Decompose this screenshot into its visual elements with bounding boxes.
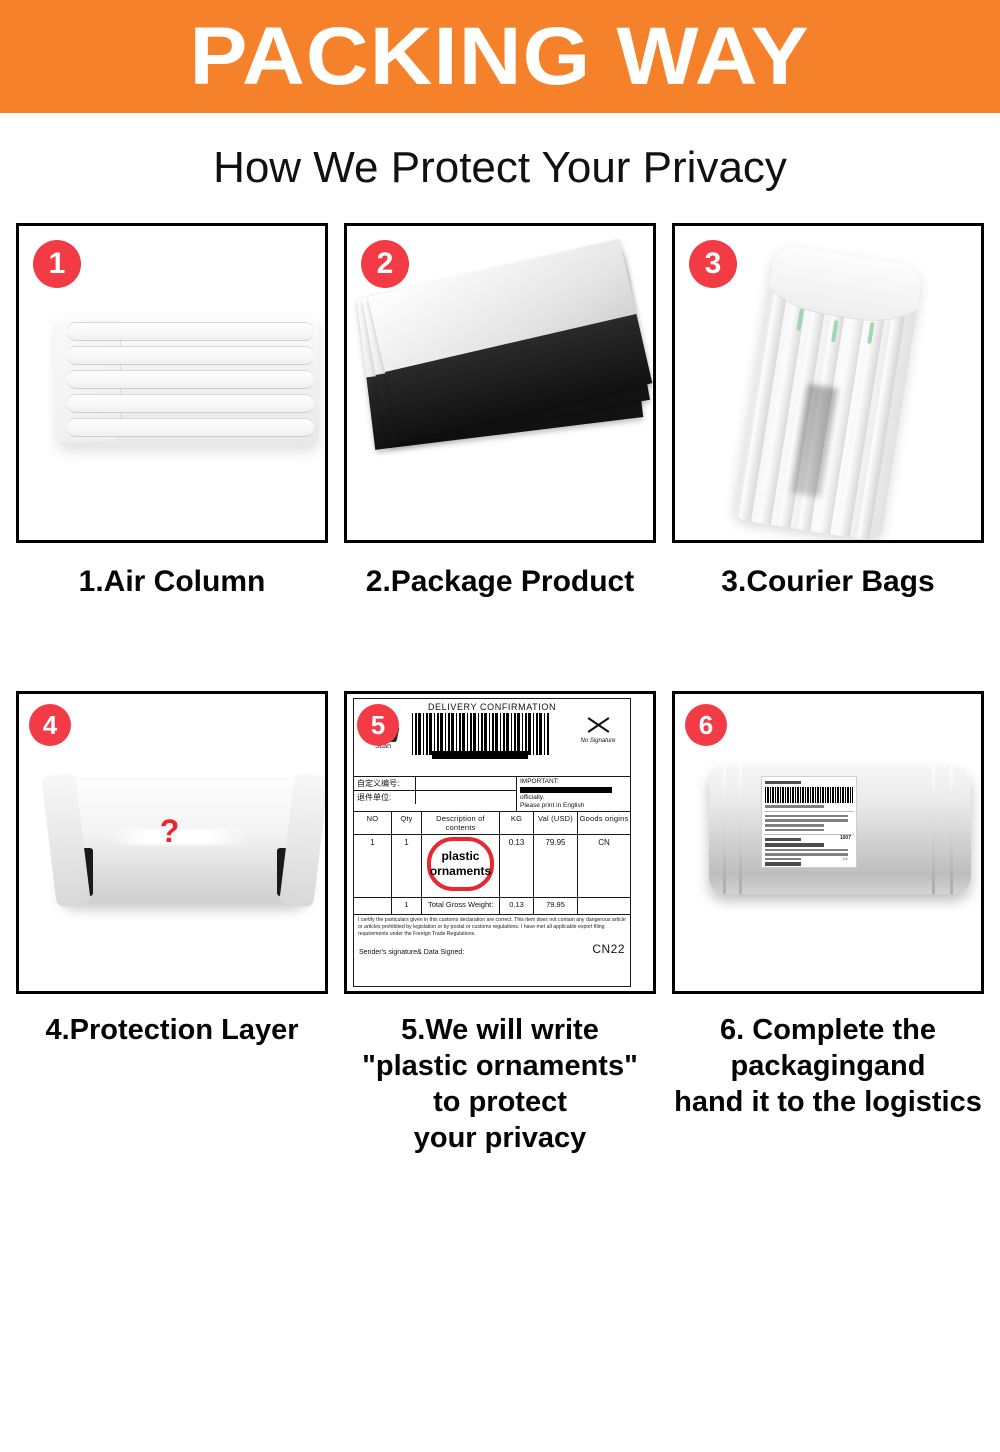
step-card-6: 6 (664, 691, 992, 1156)
step-6-image-panel: 6 (672, 691, 984, 994)
header-kg: KG (500, 812, 534, 834)
page-header-banner: PACKING WAY (0, 0, 1000, 113)
steps-grid: 1 1. (0, 223, 1000, 1156)
cell-description: plastic ornaments (422, 835, 500, 897)
step-5-caption-line-3: to protect (336, 1084, 664, 1120)
important-redacted-line (520, 787, 612, 793)
signature-row: Sender's signature& Data Signed: CN22 (354, 940, 630, 959)
step-1-badge: 1 (33, 240, 81, 288)
step-6-caption-line-1: 6. Complete the (664, 1012, 992, 1048)
contents-table-row: 1 1 plastic ornaments 0.13 79.95 CN (354, 835, 630, 898)
step-1-image-panel: 1 (16, 223, 328, 543)
step-3-image-panel: 3 (672, 223, 984, 543)
shipping-barcode-icon (765, 787, 853, 803)
cn22-customs-form: DELIVERY CONFIRMATION Scan No Signature (353, 698, 631, 987)
page-indicator: 1/1 (842, 856, 848, 861)
step-card-2: 2 2.Package Product (336, 223, 664, 599)
highlight-line-2: ornaments (430, 864, 491, 879)
step-card-1: 1 1. (8, 223, 336, 599)
step-5-caption-line-2: "plastic ornaments" (336, 1048, 664, 1084)
air-column-sleeve-icon (732, 244, 924, 542)
return-unit-row: 退件单位: (354, 791, 516, 804)
custom-number-row: 自定义编号: (354, 777, 516, 791)
cell-qty: 1 (392, 835, 422, 897)
custom-number-value[interactable] (416, 777, 516, 790)
step-6-badge: 6 (685, 704, 727, 746)
shipping-label: 1007 1/1 (761, 776, 857, 868)
header-origin: Goods origins (578, 812, 630, 834)
total-kg: 0.13 (500, 898, 534, 914)
contents-table-header: NO Qty Description of contents KG Val (U… (354, 812, 630, 835)
silver-package-icon: 1007 1/1 (709, 766, 971, 894)
cell-origin: CN (578, 835, 630, 897)
signature-label[interactable]: Sender's signature& Data Signed: (359, 949, 464, 956)
step-2-image-panel: 2 (344, 223, 656, 543)
header-desc: Description of contents (422, 812, 500, 834)
total-val: 79.95 (534, 898, 578, 914)
certification-text: I certify the particulars given in this … (354, 915, 630, 940)
plastic-ornaments-highlight: plastic ornaments (427, 837, 495, 891)
step-4-badge: 4 (29, 704, 71, 746)
form-header: DELIVERY CONFIRMATION Scan No Signature (354, 699, 630, 777)
step-3-badge: 3 (689, 240, 737, 288)
step-6-caption-line-3: hand it to the logistics (664, 1084, 992, 1120)
cell-no: 1 (354, 835, 392, 897)
barcode-icon (412, 713, 550, 755)
step-5-badge: 5 (357, 704, 399, 746)
step-6-caption: 6. Complete the packagingand hand it to … (664, 994, 992, 1120)
subtitle-container: How We Protect Your Privacy (0, 113, 1000, 223)
step-1-caption: 1.Air Column (8, 543, 336, 599)
custom-number-label: 自定义编号: (354, 777, 416, 790)
return-unit-value[interactable] (416, 791, 516, 804)
wrapped-package-icon (61, 780, 309, 902)
step-card-4: 4 ? 4.Protection Layer (8, 691, 336, 1156)
step-3-caption: 3.Courier Bags (664, 543, 992, 599)
form-code: CN22 (592, 942, 625, 956)
total-label: Total Gross Weight: (422, 898, 500, 914)
page-subtitle: How We Protect Your Privacy (213, 143, 787, 193)
header-qty: Qty (392, 812, 422, 834)
step-card-5: 5 DELIVERY CONFIRMATION Scan No Signatur… (336, 691, 664, 1156)
steps-row-1: 1 1. (8, 223, 992, 599)
no-signature-label: No Signature (574, 738, 622, 744)
header-val: Val (USD) (534, 812, 578, 834)
return-unit-label: 退件单位: (354, 791, 416, 804)
step-6-caption-line-2: packagingand (664, 1048, 992, 1084)
step-5-caption-line-1: 5.We will write (336, 1012, 664, 1048)
important-heading: IMPORTANT: (520, 778, 559, 785)
barcode-number-redacted (432, 751, 528, 759)
important-line-2: officially. (520, 794, 627, 802)
steps-row-2: 4 ? 4.Protection Layer 5 (8, 691, 992, 1156)
page-title: PACKING WAY (190, 16, 810, 98)
cell-val: 79.95 (534, 835, 578, 897)
step-2-caption: 2.Package Product (336, 543, 664, 599)
no-signature-icon: No Signature (574, 713, 622, 744)
important-line-3: Please print in English (520, 802, 627, 810)
package-number: 1007 (840, 836, 851, 841)
total-row: 1 Total Gross Weight: 0.13 79.95 (354, 898, 630, 915)
header-no: NO (354, 812, 392, 834)
total-no (354, 898, 392, 914)
question-mark-icon: ? (160, 813, 180, 850)
step-4-caption: 4.Protection Layer (8, 994, 336, 1048)
delivery-confirmation-title: DELIVERY CONFIRMATION (354, 702, 630, 712)
total-qty: 1 (392, 898, 422, 914)
step-2-badge: 2 (361, 240, 409, 288)
air-column-bundle-icon (57, 316, 319, 446)
step-5-image-panel: 5 DELIVERY CONFIRMATION Scan No Signatur… (344, 691, 656, 994)
cell-kg: 0.13 (500, 835, 534, 897)
highlight-line-1: plastic (441, 849, 479, 864)
step-card-3: 3 (664, 223, 992, 599)
total-origin (578, 898, 630, 914)
row-spacer (8, 599, 992, 691)
step-5-caption-line-4: your privacy (336, 1120, 664, 1156)
important-notice-box: IMPORTANT: officially. Please print in E… (516, 777, 630, 811)
step-4-image-panel: 4 ? (16, 691, 328, 994)
step-5-caption: 5.We will write "plastic ornaments" to p… (336, 994, 664, 1156)
